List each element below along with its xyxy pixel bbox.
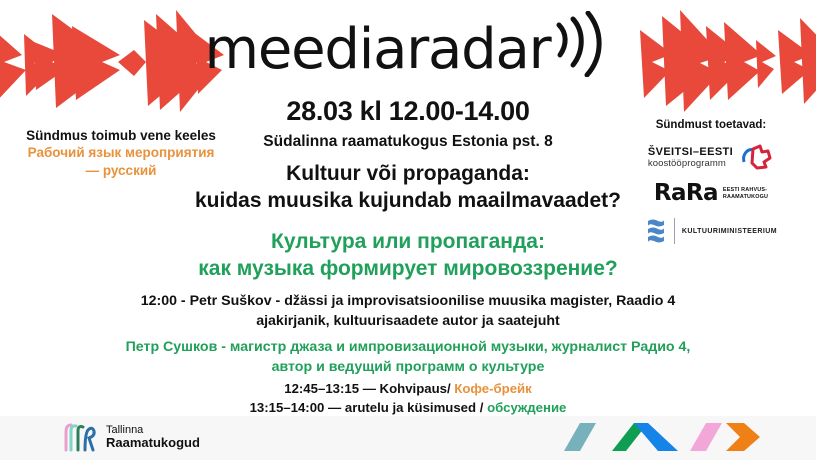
- schedule-discussion-accent: обсуждение: [487, 400, 566, 415]
- radar-waves-icon: [551, 11, 611, 77]
- title-russian-line1: Культура или пропаганда:: [108, 228, 708, 255]
- sponsor-rara-sub-line2: RAAMATUKOGU: [723, 194, 768, 200]
- title-estonian-line2: kuidas muusika kujundab maailmavaadet?: [108, 187, 708, 214]
- speaker-estonian-line1: 12:00 - Petr Suškov - džässi ja improvis…: [80, 291, 736, 311]
- sponsor-rara: RaRa EESTI RAHVUS- RAAMATUKOGU: [620, 182, 802, 205]
- ministry-divider: [674, 218, 675, 244]
- sponsors-heading: Sündmust toetavad:: [620, 119, 802, 131]
- schedule-item-discussion: 13:15–14:00 — arutelu ja küsimused / обс…: [108, 398, 708, 417]
- brand-logo: meediaradar: [0, 22, 816, 78]
- sponsor-rara-sub-line1: EESTI RAHVUS-: [723, 187, 768, 193]
- estonia-coat-of-arms-icon: [645, 217, 667, 245]
- sponsor-ministry-name: KULTUURIMINISTEERIUM: [682, 228, 777, 235]
- schedule-item-coffee: 12:45–13:15 — Kohvipaus/ Кофе-брейк: [108, 379, 708, 398]
- speaker-russian-line2: автор и ведущий программ о культуре: [80, 357, 736, 377]
- language-note-russian-line1: Рабочий язык мероприятия: [8, 144, 234, 161]
- sponsor-sveitsi-subtitle: koostööprogramm: [648, 158, 733, 169]
- title-estonian-line1: Kultuur või propaganda:: [108, 160, 708, 187]
- speaker-info-estonian: 12:00 - Petr Suškov - džässi ja improvis…: [80, 291, 736, 331]
- language-note-estonian: Sündmus toimub vene keeles: [8, 127, 234, 144]
- colored-chevrons-icon: [550, 421, 766, 453]
- title-russian: Культура или пропаганда: как музыка форм…: [108, 228, 708, 283]
- schedule-coffee-main: 12:45–13:15 — Kohvipaus/: [284, 381, 454, 396]
- sponsor-sveitsi-eesti: ŠVEITSI–EESTI koostööprogramm: [620, 144, 802, 170]
- schedule-discussion-main: 13:15–14:00 — arutelu ja küsimused /: [250, 400, 488, 415]
- tallinn-libraries-logo: Tallinna Raamatukogud: [62, 422, 200, 452]
- schedule-list: 12:45–13:15 — Kohvipaus/ Кофе-брейк 13:1…: [108, 379, 708, 417]
- tallinn-libraries-icon: [62, 422, 98, 452]
- sponsors-section: Sündmust toetavad: ŠVEITSI–EESTI koostöö…: [620, 119, 802, 245]
- speaker-estonian-line2: ajakirjanik, kultuurisaadete autor ja sa…: [80, 311, 736, 331]
- sponsor-sveitsi-name: ŠVEITSI–EESTI: [648, 146, 733, 158]
- sponsor-ministry: KULTUURIMINISTEERIUM: [620, 217, 802, 245]
- title-russian-line2: как музыка формирует мировоззрение?: [108, 255, 708, 282]
- event-poster: meediaradar 28.03 kl 12.00-14.00 Südalin…: [0, 0, 816, 460]
- logo-wordmark: meediaradar: [205, 22, 551, 78]
- tallinn-libraries-line2: Raamatukogud: [106, 436, 200, 450]
- title-estonian: Kultuur või propaganda: kuidas muusika k…: [108, 160, 708, 215]
- schedule-coffee-accent: Кофе-брейк: [454, 381, 531, 396]
- speaker-info-russian: Петр Сушков - магистр джаза и импровизац…: [80, 337, 736, 377]
- swiss-estonian-cooperation-icon: [740, 144, 774, 170]
- speaker-russian-line1: Петр Сушков - магистр джаза и импровизац…: [80, 337, 736, 357]
- sponsor-rara-wordmark: RaRa: [654, 182, 718, 205]
